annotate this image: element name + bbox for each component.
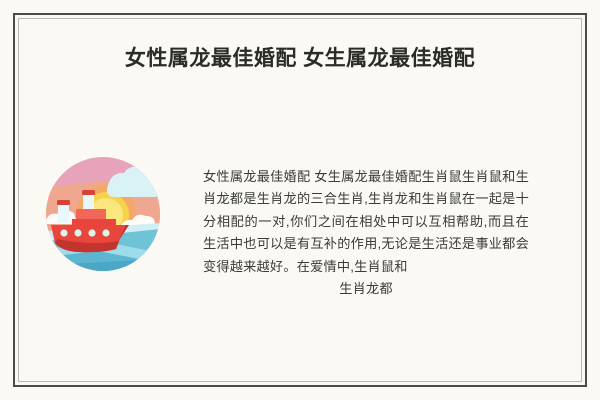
article-body-last-line: 生肖龙都 bbox=[203, 278, 529, 300]
page-title: 女性属龙最佳婚配 女生属龙最佳婚配 bbox=[30, 44, 570, 74]
ship-sunset-icon bbox=[46, 157, 160, 271]
article-body: 女性属龙最佳婚配 女生属龙最佳婚配生肖鼠生肖鼠和生肖龙都是生肖龙的三合生肖,生肖… bbox=[203, 166, 529, 300]
article-page: 女性属龙最佳婚配 女生属龙最佳婚配 bbox=[0, 0, 600, 400]
ship-sunset-circle-illustration bbox=[46, 157, 160, 271]
article-body-text: 女性属龙最佳婚配 女生属龙最佳婚配生肖鼠生肖鼠和生肖龙都是生肖龙的三合生肖,生肖… bbox=[203, 169, 529, 274]
